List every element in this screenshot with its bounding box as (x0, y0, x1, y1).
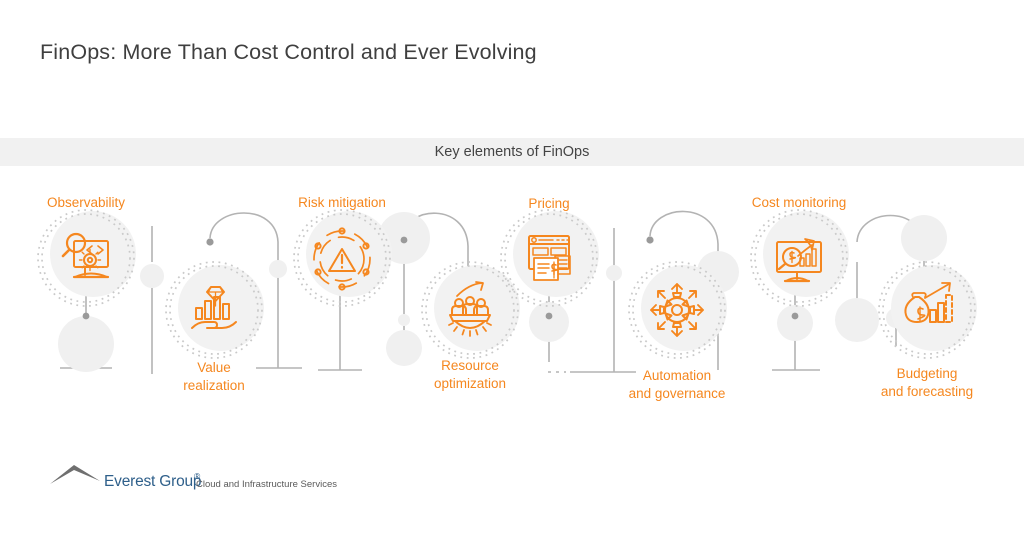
node-label-automation-and-governance: Automation and governance (629, 367, 726, 403)
footer-tagline: Cloud and Infrastructure Services (196, 479, 337, 490)
diagram-graphics (0, 166, 1024, 436)
node-label-observability: Observability (47, 194, 125, 212)
node-label-budgeting-and-forecasting: Budgeting and forecasting (881, 365, 973, 401)
node-label-value-realization: Value realization (183, 359, 245, 395)
logo-wordmark: Everest Group (104, 473, 201, 491)
page-title: FinOps: More Than Cost Control and Ever … (40, 40, 537, 65)
slide-canvas: FinOps: More Than Cost Control and Ever … (0, 0, 1024, 536)
section-band-label: Key elements of FinOps (0, 138, 1024, 166)
node-label-cost-monitoring: Cost monitoring (752, 194, 847, 212)
node-label-pricing: Pricing (528, 195, 569, 213)
node-label-resource-optimization: Resource optimization (434, 357, 506, 393)
finops-elements-diagram: Observability Value realization Risk mit… (0, 166, 1024, 436)
node-label-risk-mitigation: Risk mitigation (298, 194, 386, 212)
section-band: Key elements of FinOps (0, 138, 1024, 166)
